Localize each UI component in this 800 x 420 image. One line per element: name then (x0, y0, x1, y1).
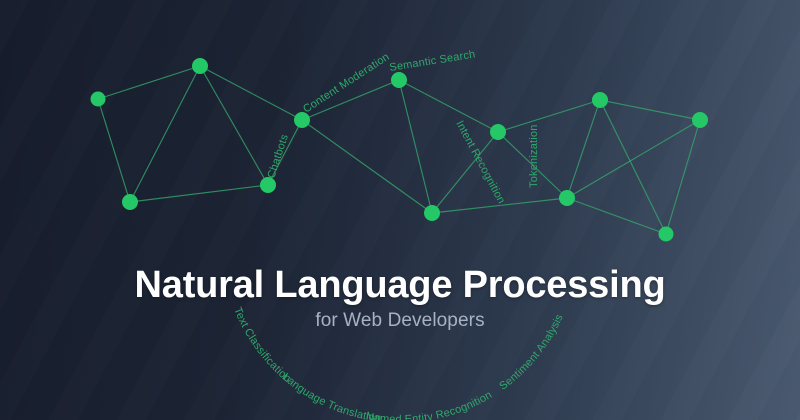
network-graph: ChatbotsContent ModerationSemantic Searc… (0, 0, 800, 420)
graph-node[interactable] (692, 112, 708, 128)
graph-node[interactable] (592, 92, 608, 108)
graph-node[interactable] (559, 190, 575, 206)
graph-node[interactable] (91, 92, 106, 107)
graph-edge (130, 66, 200, 202)
graph-edge (498, 100, 600, 132)
graph-node-label: Tokenization (528, 124, 540, 188)
graph-node-label: Chatbots (265, 133, 291, 180)
graph-edge (600, 100, 700, 120)
graph-nodes (91, 58, 709, 242)
graph-edge (98, 66, 200, 99)
graph-node[interactable] (490, 124, 506, 140)
graph-node[interactable] (659, 227, 674, 242)
graph-edge (98, 99, 130, 202)
graph-arc-label: Text Classification (231, 306, 293, 385)
graph-arc-labels: Text ClassificationLanguage TranslationN… (231, 306, 566, 420)
graph-node-label: Semantic Search (389, 49, 477, 74)
hero-banner: ChatbotsContent ModerationSemantic Searc… (0, 0, 800, 420)
graph-arc-label: Sentiment Analysis (497, 312, 566, 392)
graph-edge (567, 100, 600, 198)
graph-node[interactable] (391, 72, 407, 88)
graph-node[interactable] (424, 205, 440, 221)
graph-edges (98, 66, 700, 234)
graph-edge (399, 80, 498, 132)
graph-edge (130, 185, 268, 202)
graph-node[interactable] (122, 194, 138, 210)
graph-node[interactable] (192, 58, 208, 74)
graph-arc-label: Named Entity Recognition (365, 389, 494, 420)
graph-node-label: Content Moderation (301, 51, 392, 116)
